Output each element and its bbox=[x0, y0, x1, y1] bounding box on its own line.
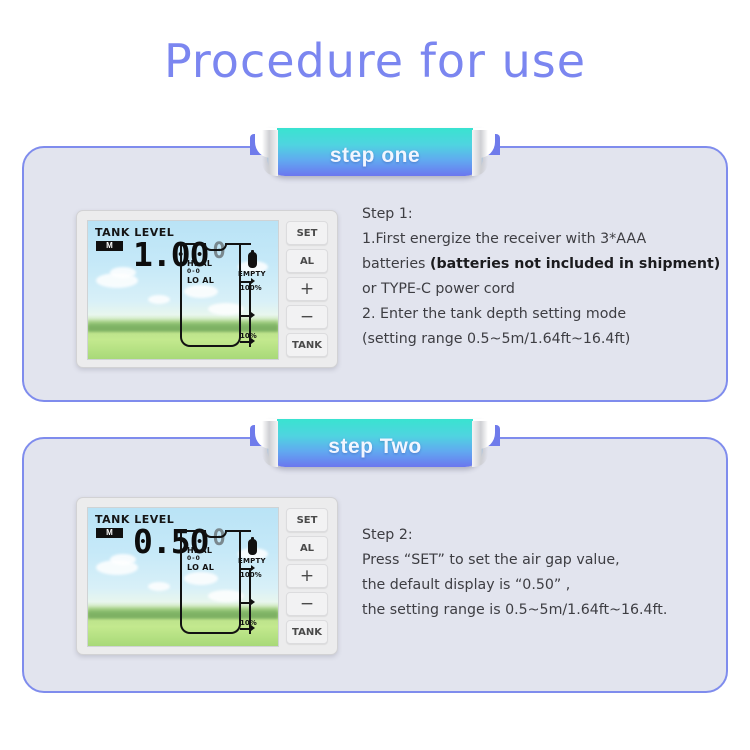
device-button-column-step-one: SET AL + − TANK bbox=[286, 220, 328, 358]
step-one-line-3: or TYPE-C power cord bbox=[362, 277, 706, 302]
receiver-device-step-one: TANK LEVEL M 1.00 0 HI AL 0-0 LO AL EMPT… bbox=[76, 210, 338, 368]
scale-bottom-label: 10% bbox=[240, 332, 257, 340]
lo-alarm-label: LO AL bbox=[187, 563, 214, 572]
lcd-screen-step-one: TANK LEVEL M 1.00 0 HI AL 0-0 LO AL EMPT… bbox=[87, 220, 279, 360]
receiver-device-step-two: TANK LEVEL M 0.50 0 HI AL 0-0 LO AL EMPT… bbox=[76, 497, 338, 655]
step-one-line-2-bold: (batteries not included in shipment) bbox=[430, 256, 720, 272]
page-title: Procedure for use bbox=[0, 34, 750, 88]
alarm-button[interactable]: AL bbox=[286, 536, 328, 560]
set-button[interactable]: SET bbox=[286, 508, 328, 532]
ribbon-plate: step Two bbox=[267, 419, 483, 467]
tank-button[interactable]: TANK bbox=[286, 333, 328, 357]
mid-marker-label: 0-0 bbox=[187, 555, 201, 562]
step-two-banner: step Two bbox=[267, 419, 483, 467]
ribbon-shade-left bbox=[262, 130, 278, 176]
step-one-line-1: 1.First energize the receiver with 3*AAA bbox=[362, 227, 706, 252]
scale-arrow-icon bbox=[251, 312, 255, 318]
step-two-line-2: the default display is “0.50” , bbox=[362, 573, 706, 598]
scale-arrow-icon bbox=[251, 599, 255, 605]
procedure-page: Procedure for use TANK LEVEL M 1 bbox=[0, 0, 750, 750]
ribbon-shade-right bbox=[472, 130, 488, 176]
battery-icon bbox=[248, 539, 257, 555]
hi-alarm-label: HI AL bbox=[187, 259, 212, 268]
lo-alarm-label: LO AL bbox=[187, 276, 214, 285]
lcd-unit-badge: M bbox=[96, 528, 123, 538]
scale-top-label: 100% bbox=[240, 571, 262, 579]
step-one-line-5: (setting range 0.5~5m/1.64ft~16.4ft) bbox=[362, 327, 706, 352]
step-two-line-1: Press “SET” to set the air gap value, bbox=[362, 548, 706, 573]
hi-alarm-label: HI AL bbox=[187, 546, 212, 555]
lcd-unit-badge: M bbox=[96, 241, 123, 251]
cloud-icon bbox=[148, 295, 170, 304]
alarm-button[interactable]: AL bbox=[286, 249, 328, 273]
battery-empty-label: EMPTY bbox=[238, 270, 266, 278]
scale-bottom-label: 10% bbox=[240, 619, 257, 627]
step-one-banner-label: step one bbox=[330, 136, 420, 168]
lcd-screen-step-two: TANK LEVEL M 0.50 0 HI AL 0-0 LO AL EMPT… bbox=[87, 507, 279, 647]
step-two-heading: Step 2: bbox=[362, 523, 706, 548]
step-two-card: TANK LEVEL M 0.50 0 HI AL 0-0 LO AL EMPT… bbox=[22, 437, 728, 693]
plus-button[interactable]: + bbox=[286, 277, 328, 301]
device-button-column-step-two: SET AL + − TANK bbox=[286, 507, 328, 645]
step-one-instructions: Step 1: 1.First energize the receiver wi… bbox=[362, 202, 706, 352]
tank-button[interactable]: TANK bbox=[286, 620, 328, 644]
set-button[interactable]: SET bbox=[286, 221, 328, 245]
step-one-heading: Step 1: bbox=[362, 202, 706, 227]
minus-button[interactable]: − bbox=[286, 305, 328, 329]
scale-top-label: 100% bbox=[240, 284, 262, 292]
step-two-line-3: the setting range is 0.5~5m/1.64ft~16.4f… bbox=[362, 598, 706, 623]
mid-marker-label: 0-0 bbox=[187, 268, 201, 275]
step-two-instructions: Step 2: Press “SET” to set the air gap v… bbox=[362, 523, 706, 623]
battery-empty-label: EMPTY bbox=[238, 557, 266, 565]
ribbon-plate: step one bbox=[267, 128, 483, 176]
step-two-banner-label: step Two bbox=[328, 427, 421, 459]
battery-icon bbox=[248, 252, 257, 268]
plus-button[interactable]: + bbox=[286, 564, 328, 588]
ribbon-shade-right bbox=[472, 421, 488, 467]
step-one-banner: step one bbox=[267, 128, 483, 176]
step-one-card: TANK LEVEL M 1.00 0 HI AL 0-0 LO AL EMPT… bbox=[22, 146, 728, 402]
cloud-icon bbox=[148, 582, 170, 591]
step-one-line-4: 2. Enter the tank depth setting mode bbox=[362, 302, 706, 327]
ribbon-shade-left bbox=[262, 421, 278, 467]
step-one-line-2: batteries (batteries not included in shi… bbox=[362, 252, 706, 277]
minus-button[interactable]: − bbox=[286, 592, 328, 616]
step-one-line-2-plain: batteries bbox=[362, 256, 430, 272]
